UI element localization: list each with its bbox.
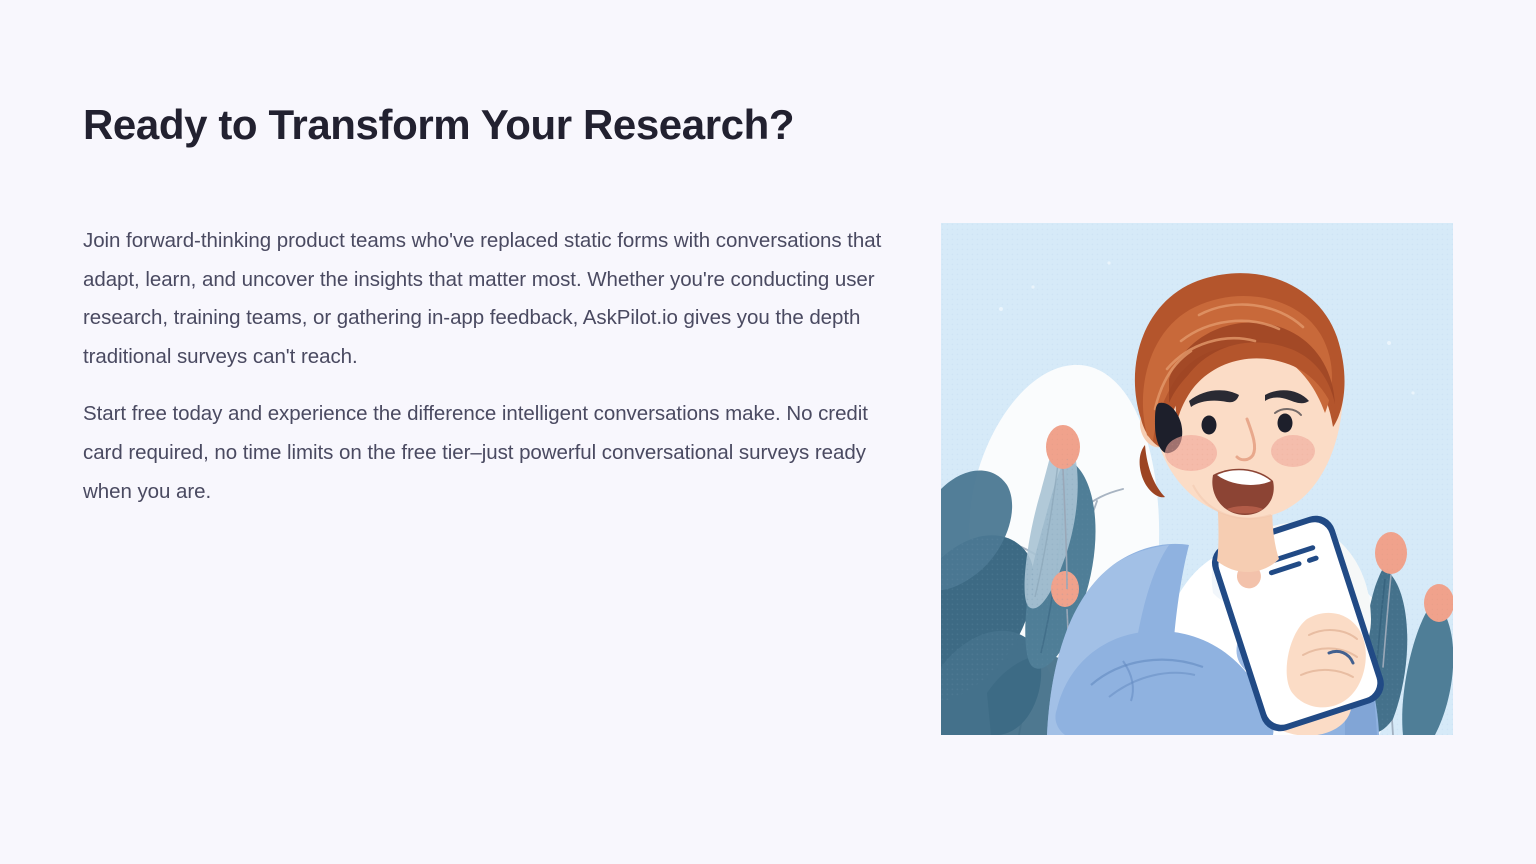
paragraph-cta: Start free today and experience the diff… — [83, 395, 883, 511]
slide-root: Ready to Transform Your Research? Join f… — [0, 0, 1536, 864]
illustration-svg — [941, 223, 1453, 735]
person-using-phone-illustration — [941, 223, 1453, 735]
body-copy: Join forward-thinking product teams who'… — [83, 222, 883, 511]
page-title: Ready to Transform Your Research? — [83, 101, 794, 149]
paragraph-intro: Join forward-thinking product teams who'… — [83, 222, 883, 376]
